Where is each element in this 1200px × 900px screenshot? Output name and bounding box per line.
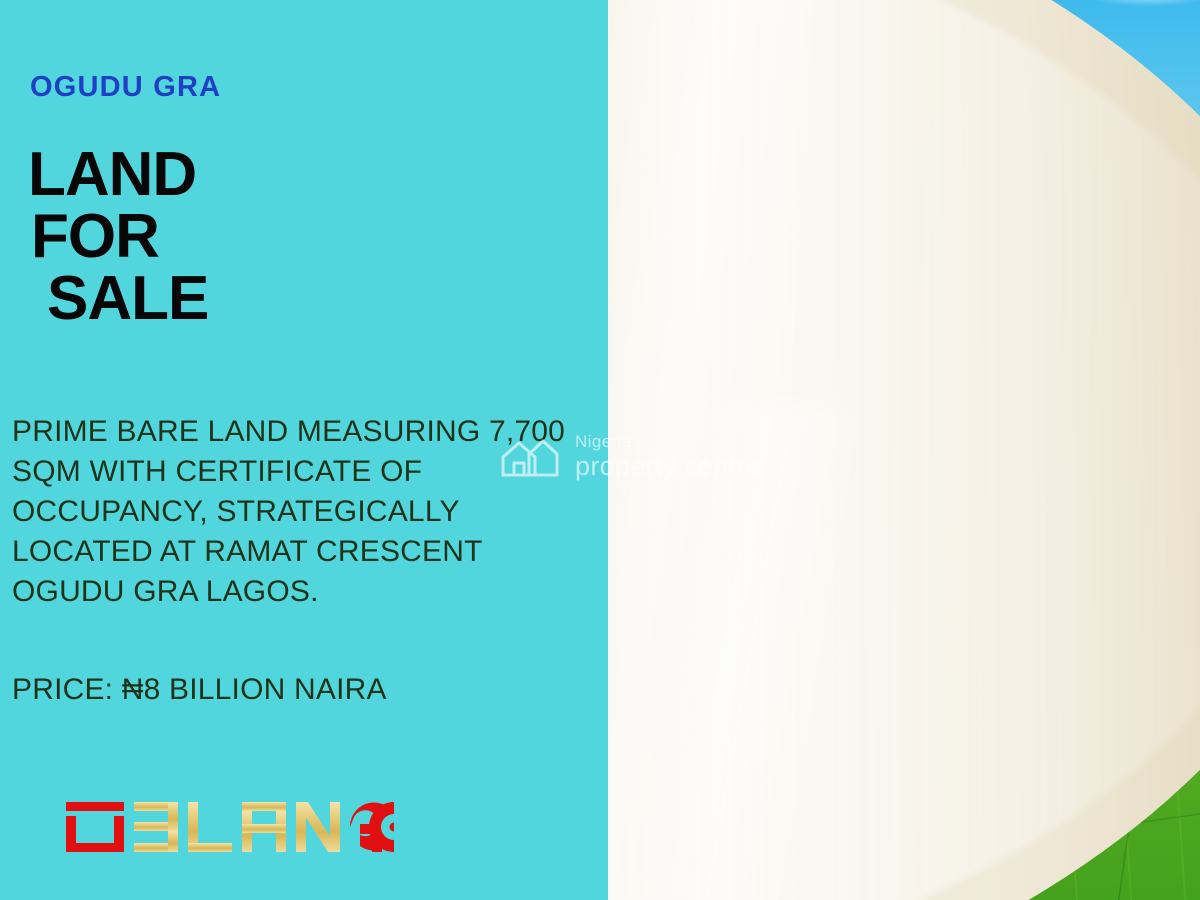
watermark: Nigeria property centre (497, 418, 797, 480)
headline-line-3: SALE (28, 268, 208, 330)
location-eyebrow: OGUDU GRA (30, 71, 221, 104)
description-text: PRIME BARE LAND MEASURING 7,700 SQM WITH… (12, 412, 572, 612)
price-text: PRICE: ₦8 BILLION NAIRA (12, 673, 387, 707)
page-title: LAND FOR SALE (28, 144, 208, 330)
poster-canvas: OGUDU GRA LAND FOR SALE PRIME BARE LAND … (0, 0, 1200, 900)
watermark-text: Nigeria property centre (575, 433, 761, 480)
house-icon (497, 432, 565, 478)
watermark-line-1: Nigeria (575, 433, 761, 450)
headline-line-2: FOR (28, 206, 208, 268)
headline-line-1: LAND (28, 140, 196, 209)
brand-logo[interactable] (64, 800, 394, 856)
oblango-logo-icon (64, 800, 394, 856)
watermark-line-2: property centre (575, 453, 761, 480)
